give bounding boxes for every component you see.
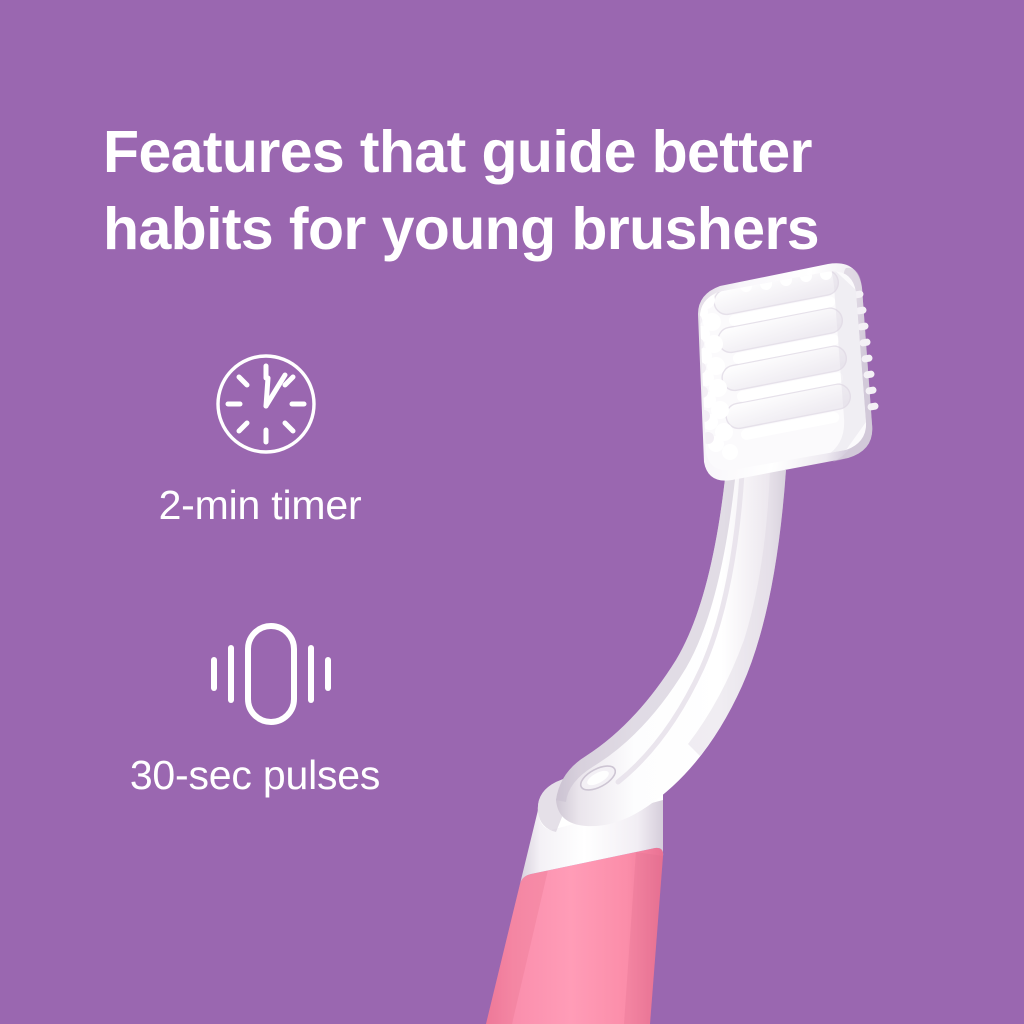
page-title: Features that guide better habits for yo… xyxy=(103,114,943,270)
headline-line-2: habits for young brushers xyxy=(103,191,943,269)
vibration-pulse-icon xyxy=(208,618,338,730)
toothbrush-head-bristles xyxy=(690,255,866,474)
feature-item-pulses: 30-sec pulses xyxy=(0,618,470,799)
toothbrush-neck xyxy=(556,470,786,826)
capsule-shape xyxy=(248,626,294,722)
clock-icon xyxy=(208,348,328,460)
feature-label-timer: 2-min timer xyxy=(45,482,475,529)
toothbrush-handle xyxy=(486,759,663,1024)
headline-line-1: Features that guide better xyxy=(103,114,943,192)
power-button xyxy=(577,761,619,795)
toothbrush-head xyxy=(698,263,879,480)
clock-icon-wrapper xyxy=(208,348,358,460)
feature-label-pulses: 30-sec pulses xyxy=(40,752,470,799)
product-feature-panel: Features that guide better habits for yo… xyxy=(0,0,1024,1024)
feature-item-timer: 2-min timer xyxy=(0,348,470,529)
vibration-pulse-icon-wrapper xyxy=(208,618,358,730)
